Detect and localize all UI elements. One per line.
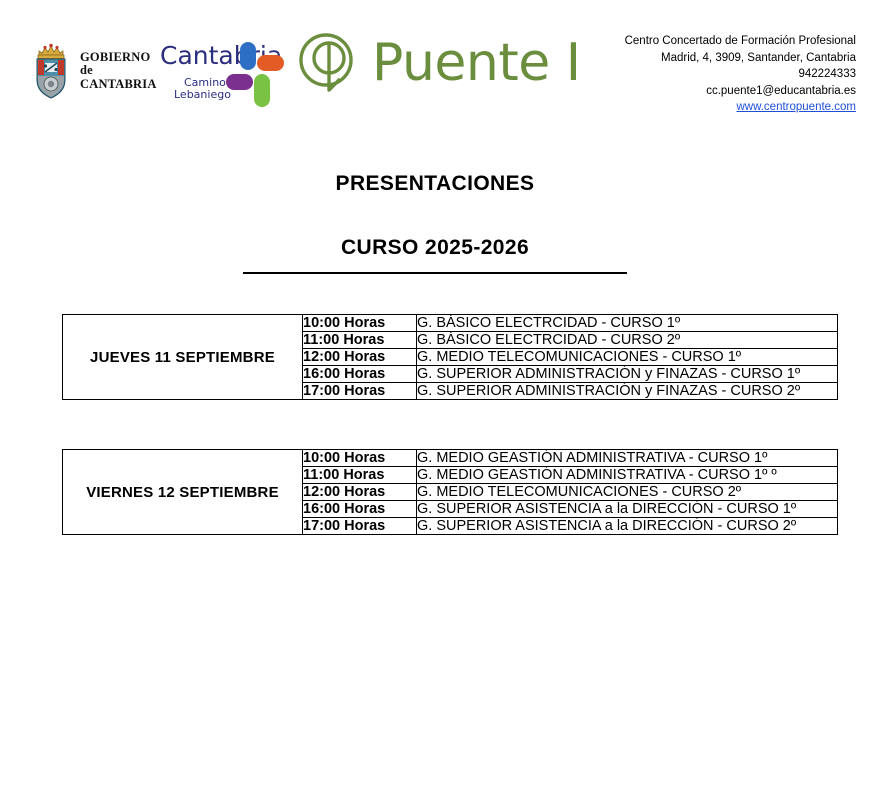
puente-emblem-icon xyxy=(296,30,362,96)
group-cell: G. SUPERIOR ADMINISTRACIÓN y FINAZAS - C… xyxy=(417,383,838,400)
cantabria-tagline-2: Lebaniego xyxy=(174,88,231,101)
schedule-table-thursday: JUEVES 11 SEPTIEMBRE 10:00 Horas G. BÁSI… xyxy=(62,314,838,400)
puente-school-logo: Puente I xyxy=(296,30,581,96)
time-cell: 17:00 Horas xyxy=(303,383,417,400)
schedule-block-thursday: JUEVES 11 SEPTIEMBRE 10:00 Horas G. BÁSI… xyxy=(0,314,870,400)
time-cell: 17:00 Horas xyxy=(303,518,417,535)
contact-line-email: cc.puente1@educantabria.es xyxy=(625,83,856,100)
cantabria-camino-lebaniego-logo: Cantabria Camino Lebaniego xyxy=(160,38,288,110)
gov-line-2: de xyxy=(80,64,157,78)
schedule-table-friday: VIERNES 12 SEPTIEMBRE 10:00 Horas G. MED… xyxy=(62,449,838,535)
gov-line-1: GOBIERNO xyxy=(80,51,157,65)
group-cell: G. MEDIO TELECOMUNICACIONES - CURSO 2º xyxy=(417,484,838,501)
puente-wordmark: Puente I xyxy=(372,37,581,89)
time-cell: 11:00 Horas xyxy=(303,467,417,484)
contact-line-phone: 942224333 xyxy=(625,66,856,83)
page-subtitle: CURSO 2025-2026 xyxy=(0,236,870,260)
day-label-cell: JUEVES 11 SEPTIEMBRE xyxy=(63,315,303,400)
government-of-cantabria-logo: GOBIERNO de CANTABRIA xyxy=(30,42,157,100)
cantabria-coat-of-arms-icon xyxy=(30,42,72,100)
table-row: JUEVES 11 SEPTIEMBRE 10:00 Horas G. BÁSI… xyxy=(63,315,838,332)
document-header: GOBIERNO de CANTABRIA Cantabria Camino L… xyxy=(0,0,870,140)
group-cell: G. MEDIO TELECOMUNICACIONES - CURSO 1º xyxy=(417,349,838,366)
group-cell: G. SUPERIOR ADMINISTRACIÓN y FINAZAS - C… xyxy=(417,366,838,383)
group-cell: G. MEDIO GEASTIÓN ADMINISTRATIVA - CURSO… xyxy=(417,450,838,467)
time-cell: 10:00 Horas xyxy=(303,450,417,467)
group-cell: G. MEDIO GEASTIÓN ADMINISTRATIVA - CURSO… xyxy=(417,467,838,484)
schedule-body-1: VIERNES 12 SEPTIEMBRE 10:00 Horas G. MED… xyxy=(63,450,838,535)
table-row: VIERNES 12 SEPTIEMBRE 10:00 Horas G. MED… xyxy=(63,450,838,467)
government-logo-text: GOBIERNO de CANTABRIA xyxy=(80,51,157,92)
contact-line-center-type: Centro Concertado de Formación Profesion… xyxy=(625,33,856,50)
group-cell: G. SUPERIOR ASISTENCIA a la DIRECCIÓN - … xyxy=(417,518,838,535)
document-titles: PRESENTACIONES CURSO 2025-2026 xyxy=(0,172,870,274)
time-cell: 11:00 Horas xyxy=(303,332,417,349)
page-title: PRESENTACIONES xyxy=(0,172,870,196)
group-cell: G. SUPERIOR ASISTENCIA a la DIRECCIÓN - … xyxy=(417,501,838,518)
time-cell: 10:00 Horas xyxy=(303,315,417,332)
contact-website-link[interactable]: www.centropuente.com xyxy=(625,99,856,116)
group-cell: G. BÁSICO ELECTRCIDAD - CURSO 2º xyxy=(417,332,838,349)
time-cell: 12:00 Horas xyxy=(303,484,417,501)
time-cell: 16:00 Horas xyxy=(303,501,417,518)
contact-line-address: Madrid, 4, 3909, Santander, Cantabria xyxy=(625,50,856,67)
schedule-body-0: JUEVES 11 SEPTIEMBRE 10:00 Horas G. BÁSI… xyxy=(63,315,838,400)
contact-info-block: Centro Concertado de Formación Profesion… xyxy=(625,33,856,116)
time-cell: 12:00 Horas xyxy=(303,349,417,366)
gov-line-3: CANTABRIA xyxy=(80,78,157,92)
time-cell: 16:00 Horas xyxy=(303,366,417,383)
title-divider xyxy=(243,272,627,274)
schedule-block-friday: VIERNES 12 SEPTIEMBRE 10:00 Horas G. MED… xyxy=(0,449,870,535)
cantabria-pinwheel-icon: Cantabria Camino Lebaniego xyxy=(160,38,288,110)
group-cell: G. BÁSICO ELECTRCIDAD - CURSO 1º xyxy=(417,315,838,332)
day-label-cell: VIERNES 12 SEPTIEMBRE xyxy=(63,450,303,535)
